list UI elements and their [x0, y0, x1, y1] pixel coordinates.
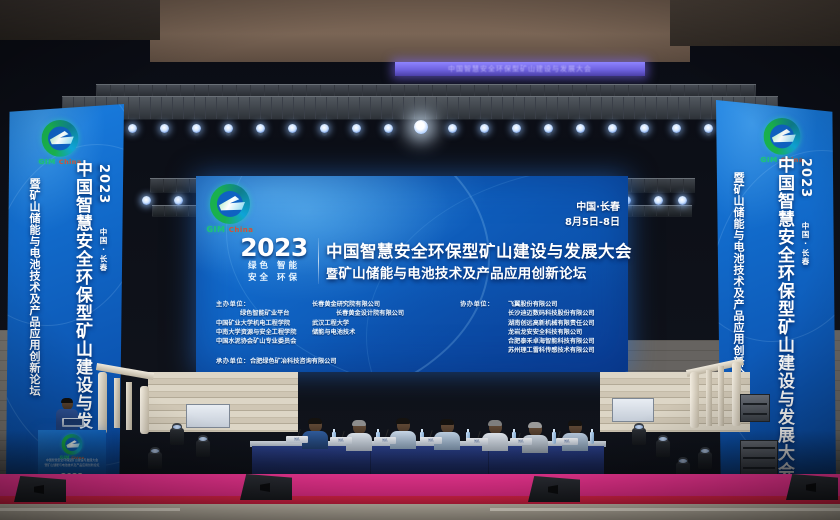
stage-lamp — [384, 124, 393, 133]
stage-lamp — [654, 196, 663, 205]
table-nameplate: 姓名 — [374, 437, 396, 444]
screen-date: 8月5日-8日 — [508, 215, 620, 230]
stage-lamp — [224, 124, 233, 133]
panelist — [434, 419, 460, 450]
host-col2-3: 储能与电池技术 — [312, 328, 355, 337]
led-ticker-sign: 中国智慧安全环保型矿山建设与发展大会 — [395, 62, 645, 76]
moving-head-light — [196, 440, 210, 457]
screen-title-line2: 暨矿山储能与电池技术及产品应用创新论坛 — [326, 262, 626, 282]
banner-right-year: 2023 — [798, 158, 813, 198]
rack-bar — [743, 403, 767, 405]
table-nameplate: 姓名 — [286, 436, 308, 443]
host-col2-1: 长春黄金设计院有限公司 — [336, 309, 404, 318]
nameplate-text: 姓名 — [420, 437, 442, 444]
moving-head-light — [632, 428, 646, 445]
rack-bar — [743, 467, 775, 469]
podium-line1: 中国智慧安全环保型矿山建设与发展大会 — [41, 458, 103, 462]
panelist-hair — [568, 420, 582, 426]
banner-left-sub-text: 暨矿山储能与电池技术及产品应用创新论坛 — [26, 178, 42, 468]
balustrade-column — [114, 378, 120, 428]
host-label: 主办单位： — [216, 300, 312, 309]
panelist-hair — [308, 418, 322, 424]
gim-china-logo: GIM China — [206, 184, 254, 234]
moving-head-light — [170, 428, 184, 445]
coorg-0: 飞翼股份有限公司 — [508, 300, 558, 309]
banner-left-location: 中国·长春 — [98, 228, 109, 272]
coorg-label: 协办单位： — [460, 300, 508, 309]
nameplate-text: 姓名 — [556, 438, 578, 445]
panelist — [346, 420, 372, 451]
screen-title-line2-text: 矿山储能与电池技术及产品应用创新论坛 — [338, 266, 586, 282]
gim-logo-ring-icon — [42, 120, 79, 157]
gim-logo-ring-icon — [210, 184, 250, 224]
panelist-hair — [440, 419, 454, 425]
table-nameplate: 姓名 — [330, 437, 352, 444]
exec-value: 合肥绿色矿冶科技咨询有限公司 — [250, 358, 337, 365]
balustrade-column — [126, 382, 132, 430]
host-col2-0: 长春黄金研究院有限公司 — [312, 300, 380, 309]
rack-bar — [743, 413, 767, 415]
apron-seam — [490, 508, 840, 511]
stage-monitor-speaker — [14, 476, 66, 502]
screen-location-date: 中国·长春 8月5日-8日 — [508, 200, 620, 230]
confidence-monitor-right — [612, 398, 654, 422]
coorg-3: 龙岩龙安安全科技有限公司 — [460, 328, 595, 337]
stage-lamp — [608, 124, 617, 133]
panelist-hair — [488, 420, 502, 426]
stage-lamp — [142, 196, 151, 205]
host-col1-1: 中国矿业大学机电工程学院 — [216, 319, 312, 328]
equipment-rack — [740, 440, 778, 476]
apron-seam — [0, 508, 180, 511]
panelist — [390, 418, 416, 449]
equipment-rack — [740, 394, 770, 422]
gim-logo-ring-icon — [764, 118, 801, 155]
table-nameplate: 姓名 — [510, 438, 532, 445]
stage-monitor-speaker — [786, 474, 838, 500]
stage-lamp — [256, 124, 265, 133]
banner-right-main-text: 中国智慧安全环保型矿山建设与发展大会 — [772, 156, 797, 456]
balustrade-column — [718, 366, 724, 426]
stage-scene: 中国智慧安全环保型矿山建设与发展大会 — [0, 0, 840, 520]
stage-lamp — [174, 196, 183, 205]
ceiling-wall-left — [0, 0, 160, 40]
stage-lamp — [192, 124, 201, 133]
stage-lamp — [160, 124, 169, 133]
gim-word: GIM — [38, 158, 55, 166]
stage-monitor-speaker — [240, 474, 292, 500]
stage-lamp — [678, 196, 687, 205]
organizer-exec-block: 承办单位：合肥绿色矿冶科技咨询有限公司 — [216, 357, 337, 366]
coorg-1: 长沙迪迈数码科技股份有限公司 — [460, 309, 595, 318]
table-nameplate: 姓名 — [466, 438, 488, 445]
screen-title-line2-prefix: 暨 — [326, 267, 338, 281]
ceiling-wall-right — [670, 0, 840, 46]
screen-location: 中国·长春 — [508, 200, 620, 215]
screen-divider — [318, 238, 319, 284]
screen-year: 2023 — [230, 236, 318, 260]
stage-lamp — [672, 124, 681, 133]
screen-year-block: 2023 绿色 智能 安全 环保 — [230, 236, 318, 284]
stage-lamp — [352, 124, 361, 133]
host-col2-2: 武汉工程大学 — [312, 319, 349, 328]
speaker-hair — [61, 398, 73, 403]
truss-main-beam — [62, 96, 778, 120]
balustrade-right — [686, 356, 744, 446]
banner-left-year: 2023 — [96, 164, 111, 204]
panelist-hair — [396, 418, 410, 424]
stage-lamp — [640, 124, 649, 133]
exec-label: 承办单位： — [216, 358, 250, 365]
ceiling-wall — [150, 0, 690, 62]
table-nameplate: 姓名 — [556, 438, 578, 445]
stage-lamp-bright — [414, 120, 428, 134]
organizer-coorg-block: 协办单位：飞翼股份有限公司 长沙迪迈数码科技股份有限公司 湖南创远高新机械有限责… — [460, 300, 595, 356]
nameplate-text: 姓名 — [510, 438, 532, 445]
panelist-hair — [352, 420, 366, 426]
panelist — [482, 420, 508, 451]
screen-title-line1: 中国智慧安全环保型矿山建设与发展大会 — [326, 238, 626, 262]
gim-word: GIM — [206, 225, 225, 234]
nameplate-text: 姓名 — [466, 438, 488, 445]
stage-lamp — [512, 124, 521, 133]
banner-right-location: 中国·长春 — [800, 222, 811, 266]
nameplate-text: 姓名 — [374, 437, 396, 444]
balustrade-post — [140, 386, 149, 434]
host-col1-0: 绿色智能矿业平台 — [216, 309, 336, 318]
water-bottle — [590, 432, 594, 444]
coorg-5: 苏州理工雷科传感技术有限公司 — [460, 346, 595, 355]
stage-lamp — [576, 124, 585, 133]
confidence-monitor-left — [186, 404, 230, 428]
podium-line2: 暨矿山储能与电池技术及产品应用创新论坛 — [41, 463, 103, 467]
moving-head-light — [698, 452, 712, 469]
stage-monitor-speaker — [528, 476, 580, 502]
nameplate-text: 姓名 — [330, 437, 352, 444]
panelist — [562, 420, 588, 451]
stage-lamp — [288, 124, 297, 133]
stage-apron — [0, 504, 840, 520]
coorg-2: 湖南创远高新机械有限责任公司 — [460, 319, 595, 328]
coorg-4: 合肥泰禾卓海智能科技有限公司 — [460, 337, 595, 346]
panelist — [302, 418, 328, 449]
moving-head-light — [656, 440, 670, 457]
table-nameplate: 姓名 — [420, 437, 442, 444]
stage-lamp — [128, 124, 137, 133]
stage-lamp — [544, 124, 553, 133]
nameplate-text: 姓名 — [286, 436, 308, 443]
rack-bar — [743, 447, 775, 449]
host-col1-2: 中南大学资源与安全工程学院 — [216, 328, 312, 337]
stage-lamp — [320, 124, 329, 133]
stage-lamp — [448, 124, 457, 133]
balustrade-post — [690, 372, 699, 428]
moving-head-light — [148, 452, 162, 469]
gim-logo-ring-icon — [62, 434, 83, 455]
led-ticker-text: 中国智慧安全环保型矿山建设与发展大会 — [448, 64, 592, 74]
stage-lamp — [704, 124, 713, 133]
podium-gim-logo: GIM China — [60, 434, 85, 460]
organizer-host-block: 主办单位：长春黄金研究院有限公司 绿色智能矿业平台长春黄金设计院有限公司 中国矿… — [216, 300, 404, 346]
panelist-hair — [528, 422, 542, 428]
screen-slogan-line2: 安全 环保 — [230, 272, 318, 284]
rack-bar — [743, 457, 775, 459]
stage-lamp — [480, 124, 489, 133]
podium-laptop — [62, 418, 84, 427]
balustrade-post — [98, 372, 107, 434]
balustrade-column — [706, 370, 712, 426]
host-col1-3: 中国水泥协会矿山专业委员会 — [216, 337, 312, 346]
